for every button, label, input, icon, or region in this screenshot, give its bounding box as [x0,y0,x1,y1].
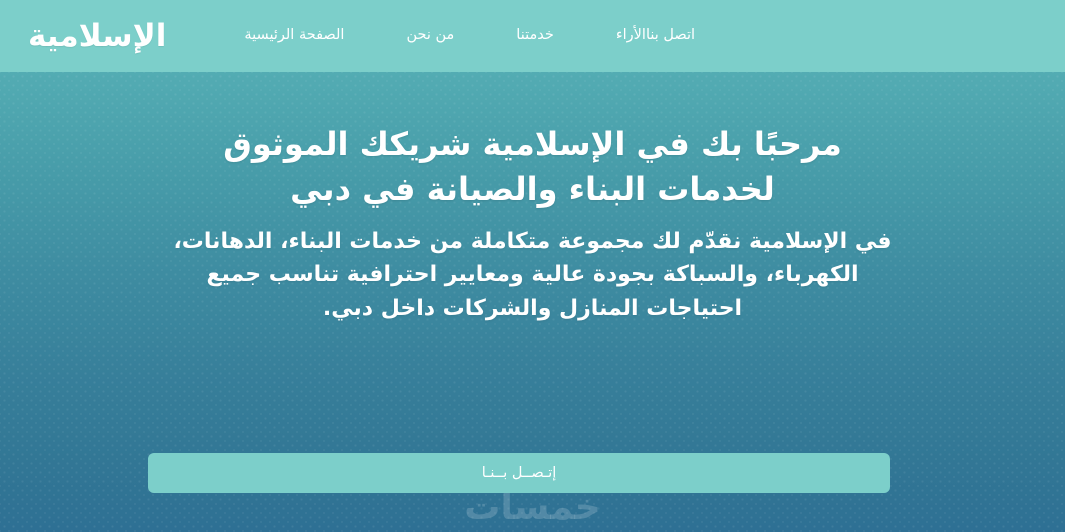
nav-item-contact[interactable]: اتصل بنا [646,21,695,50]
khamsat-watermark: خمسات [0,487,1065,528]
nav-item-home[interactable]: الصفحة الرئيسية [244,21,344,50]
landing-page: الإسلامية الصفحة الرئيسية من نحن خدمتنا … [0,0,1065,532]
nav-item-reviews[interactable]: الأراء [616,21,646,50]
main-navigation: الصفحة الرئيسية من نحن خدمتنا الأراء اتص… [182,21,1065,50]
site-logo[interactable]: الإسلامية [0,21,182,52]
hero-section: مرحبًا بك في الإسلامية شريكك الموثوق لخد… [0,72,1065,532]
contact-us-button[interactable]: إتـصــل بــنـا [148,453,890,493]
nav-item-about[interactable]: من نحن [406,21,454,50]
hero-cta-container: إتـصــل بــنـا [148,453,890,493]
hero-content: مرحبًا بك في الإسلامية شريكك الموثوق لخد… [162,72,904,325]
nav-item-services[interactable]: خدمتنا [516,21,554,50]
hero-subtitle: في الإسلامية نقدّم لك مجموعة متكاملة من … [162,225,904,325]
hero-title: مرحبًا بك في الإسلامية شريكك الموثوق لخد… [162,122,904,213]
site-header: الإسلامية الصفحة الرئيسية من نحن خدمتنا … [0,0,1065,72]
